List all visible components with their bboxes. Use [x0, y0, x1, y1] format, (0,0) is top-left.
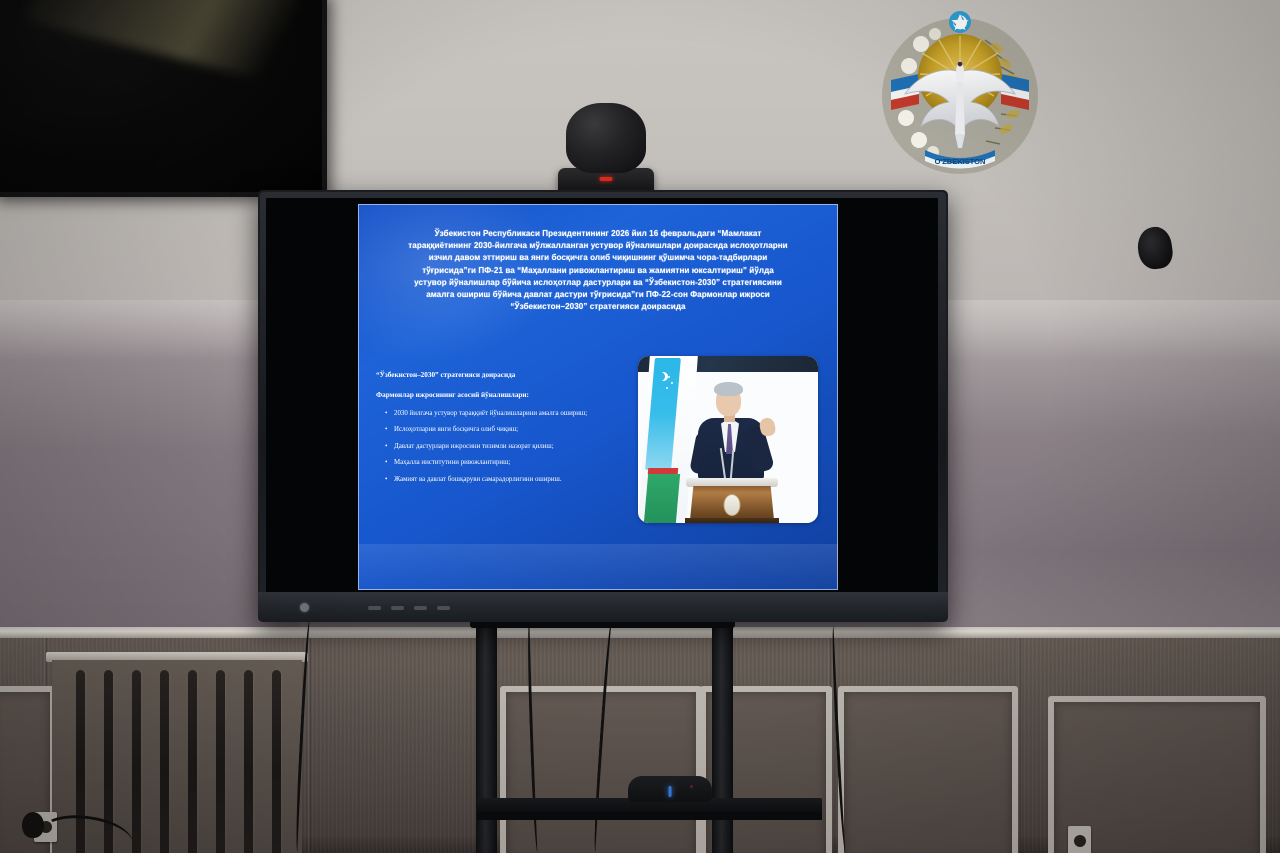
flag-star-icon	[668, 376, 670, 378]
camera-record-led	[600, 177, 613, 181]
podium	[690, 486, 774, 520]
slide-title-line: изчил давом эттириш ва янги босқичга оли…	[376, 252, 820, 264]
slide-title-line: Ўзбекистон Республикаси Президентининг 2…	[376, 228, 820, 240]
display-button[interactable]	[414, 606, 427, 610]
device-power-led	[669, 786, 672, 797]
display-button[interactable]	[391, 606, 404, 610]
uzbekistan-state-emblem: O'ZBEKISTON	[873, 8, 1048, 186]
wainscot-seam	[1018, 638, 1021, 853]
podium-top	[686, 478, 778, 487]
device-status-led	[690, 785, 693, 788]
slide-title-line: амалга ошириш бўйича давлат дастури тўғр…	[376, 289, 820, 301]
list-item: Жамият ва давлат бошқаруви самарадорлиги…	[394, 475, 624, 485]
slide-title-line: тўғрисида”ги ПФ-21 ва “Маҳаллани ривожла…	[376, 265, 820, 277]
list-item: Давлат дастурлари ижросини тизимли назор…	[394, 442, 624, 452]
flag-crescent-icon	[656, 372, 665, 381]
display-button[interactable]	[437, 606, 450, 610]
interactive-flat-panel[interactable]: Ўзбекистон Республикаси Президентининг 2…	[258, 190, 948, 622]
slide-title-line: тараққиётининг 2030-йилгача мўлжалланган…	[376, 240, 820, 252]
podium-emblem-icon	[724, 494, 741, 516]
display-bottom-bezel	[258, 592, 948, 622]
slide-title-line: устувор йўналишлар бўйича ислоҳотлар дас…	[376, 277, 820, 289]
slide-title-line: “Ўзбекистон–2030” стратегияси доирасида	[376, 301, 820, 313]
president-at-podium-photo	[638, 356, 818, 523]
flag-green-stripe	[644, 474, 680, 523]
secondary-tv-screen	[0, 0, 327, 197]
ptz-camera-head[interactable]	[566, 103, 646, 173]
flag-star-icon	[671, 382, 673, 384]
display-screen[interactable]: Ўзбекистон Республикаси Президентининг 2…	[266, 198, 938, 594]
slide-body-heading: “Ўзбекистон–2030” стратегияси доирасида	[376, 370, 624, 381]
wall-panel	[838, 686, 1018, 853]
display-power-led	[300, 603, 309, 612]
emblem-svg: O'ZBEKISTON	[873, 8, 1048, 186]
slide-reflection	[358, 544, 838, 590]
slide-body-subheading: Фармонлар ижросининг асосий йўналишлари:	[376, 390, 624, 401]
list-item: Маҳалла институтини ривожлантириш;	[394, 458, 624, 468]
room-photo-scene: O'ZBEKISTON	[0, 0, 1280, 853]
slide-bullet-list: 2030 йилгача устувор тараққиёт йўналишла…	[376, 409, 624, 485]
slide-body: “Ўзбекистон–2030” стратегияси доирасида …	[376, 370, 624, 491]
media-player-box[interactable]	[628, 776, 712, 802]
emblem-banner-text: O'ZBEKISTON	[935, 157, 986, 166]
display-button[interactable]	[368, 606, 381, 610]
podium-base	[685, 518, 779, 523]
slide-title: Ўзбекистон Республикаси Президентининг 2…	[376, 228, 820, 313]
flag-star-icon	[666, 387, 668, 389]
speaker-hair	[714, 382, 743, 396]
list-item: 2030 йилгача устувор тараққиёт йўналишла…	[394, 409, 624, 419]
wall-outlet[interactable]	[1068, 826, 1091, 853]
presentation-slide: Ўзбекистон Республикаси Президентининг 2…	[358, 204, 838, 590]
list-item: Ислоҳотларни янги босқичга олиб чиқиш;	[394, 425, 624, 435]
stand-shelf-edge	[477, 812, 822, 820]
